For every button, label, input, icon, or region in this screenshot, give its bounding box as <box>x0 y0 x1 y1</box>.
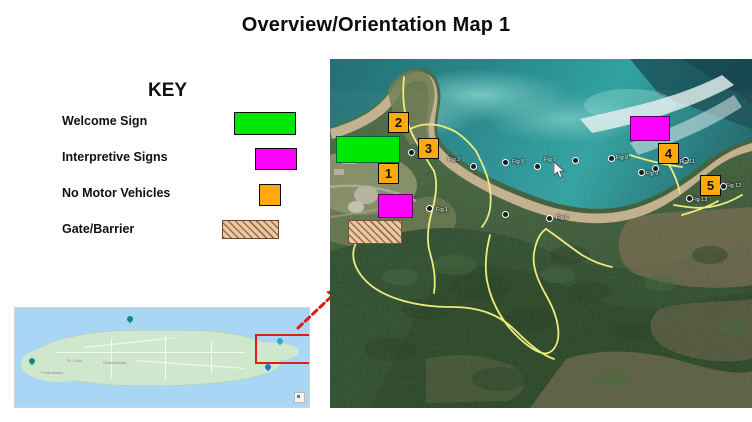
map-marker-1[interactable]: 1 <box>378 163 399 184</box>
legend-swatch-welcome-sign <box>234 112 296 135</box>
legend-label-no-motor-vehicles: No Motor Vehicles <box>62 186 170 200</box>
inset-road <box>211 340 212 374</box>
inset-place-label: St. Croix <box>67 358 82 363</box>
waypoint-label: Fig 2 <box>448 157 460 163</box>
legend-item-no-motor-vehicles: No Motor Vehicles <box>62 182 312 218</box>
inset-zoom-control[interactable] <box>294 392 305 403</box>
waypoint-label: Fig 9 <box>646 171 658 177</box>
cursor-svg <box>554 162 566 179</box>
legend-item-gate-barrier: Gate/Barrier <box>62 218 312 254</box>
legend-swatch-interpretive-signs <box>255 148 297 170</box>
waypoint-label: Fig 13 <box>692 197 707 203</box>
inset-locator-map[interactable]: St. Croix Frederiksted Christiansted <box>14 307 310 408</box>
inset-place-label: Christiansted <box>103 360 126 365</box>
waypoint-marker[interactable] <box>502 211 509 218</box>
satellite-map[interactable]: 1 2 3 4 5 Fig 1 Fig 2 Fig 5 Fig 6 Fig 7 … <box>330 59 752 408</box>
mouse-pointer-icon <box>554 162 566 179</box>
waypoint-label: Fig 8 <box>616 155 628 161</box>
waypoint-marker[interactable] <box>572 157 579 164</box>
inset-place-label: Frederiksted <box>41 370 63 375</box>
legend: Welcome Sign Interpretive Signs No Motor… <box>62 110 312 254</box>
inset-road <box>111 338 112 378</box>
legend-heading: KEY <box>148 80 187 102</box>
map-overlay-gate-barrier <box>348 220 402 244</box>
map-marker-2[interactable]: 2 <box>388 112 409 133</box>
inset-highlight-box <box>255 334 310 364</box>
inset-road <box>165 336 166 380</box>
waypoint-label: Fig 5 <box>512 159 524 165</box>
map-marker-5[interactable]: 5 <box>700 175 721 196</box>
map-overlay-interpretive-sign-east <box>630 116 670 141</box>
waypoint-marker[interactable] <box>546 215 553 222</box>
waypoint-label: Fig 1 <box>436 207 448 213</box>
map-marker-3[interactable]: 3 <box>418 138 439 159</box>
legend-label-interpretive-signs: Interpretive Signs <box>62 150 168 164</box>
legend-swatch-no-motor-vehicles <box>259 184 281 206</box>
waypoint-marker[interactable] <box>638 169 645 176</box>
waypoint-marker[interactable] <box>608 155 615 162</box>
waypoint-marker[interactable] <box>408 149 415 156</box>
waypoint-marker[interactable] <box>470 163 477 170</box>
legend-item-interpretive-signs: Interpretive Signs <box>62 146 312 182</box>
slide-canvas: Overview/Orientation Map 1 KEY Welcome S… <box>0 0 752 422</box>
legend-swatch-gate-barrier <box>222 220 279 239</box>
waypoint-marker[interactable] <box>534 163 541 170</box>
waypoint-marker[interactable] <box>502 159 509 166</box>
legend-item-welcome-sign: Welcome Sign <box>62 110 312 146</box>
waypoint-marker[interactable] <box>426 205 433 212</box>
page-title: Overview/Orientation Map 1 <box>0 14 752 37</box>
waypoint-label: Fig 11 <box>680 159 695 165</box>
inset-road <box>55 352 245 353</box>
legend-label-gate-barrier: Gate/Barrier <box>62 222 134 236</box>
waypoint-label: Fig 6 <box>556 215 568 221</box>
map-overlay-welcome-sign <box>336 136 400 163</box>
legend-label-welcome-sign: Welcome Sign <box>62 114 147 128</box>
waypoint-label: Fig 12 <box>726 183 741 189</box>
map-marker-4[interactable]: 4 <box>658 143 679 164</box>
map-overlay-interpretive-sign-west <box>378 194 413 218</box>
